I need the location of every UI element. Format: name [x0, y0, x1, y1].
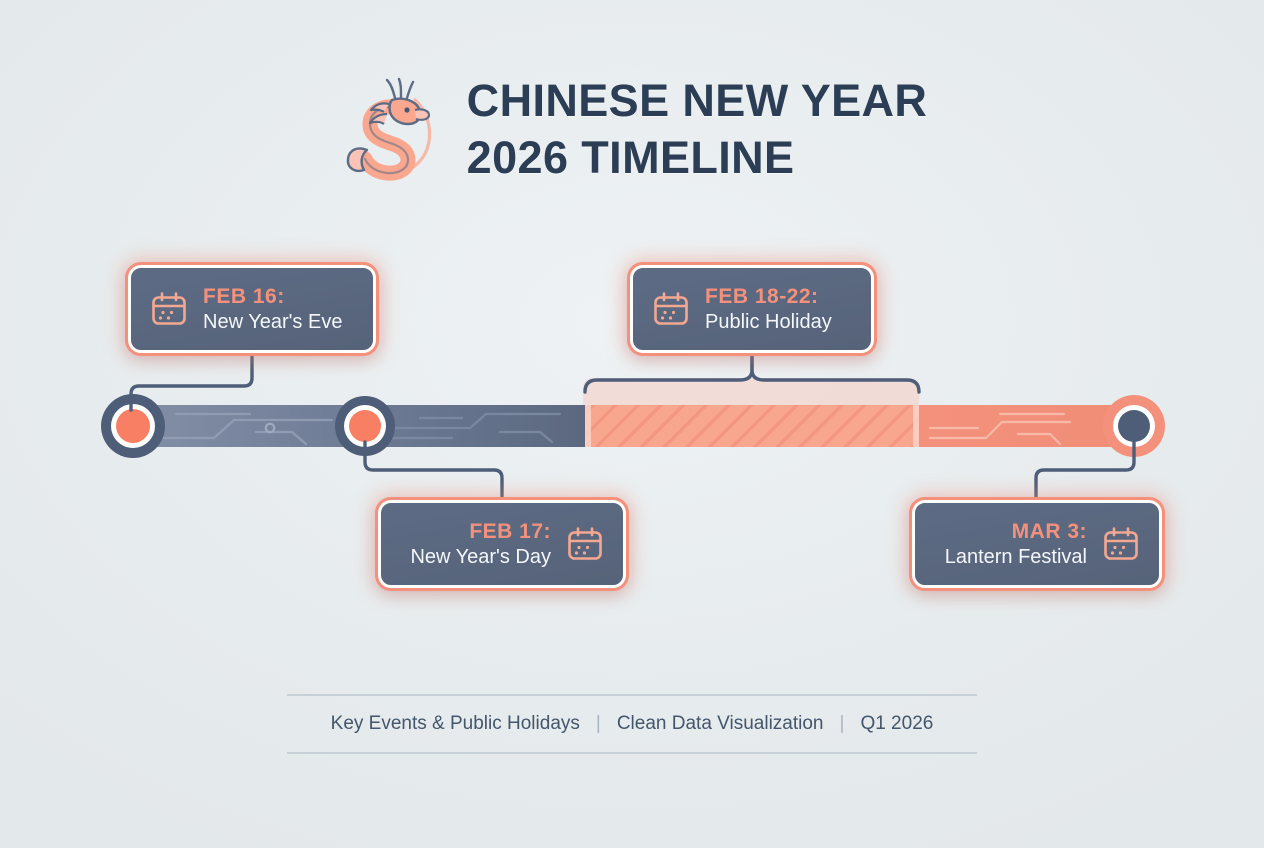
calendar-icon — [651, 289, 691, 329]
event-card-text: FEB 17: New Year's Day — [410, 520, 551, 568]
timeline-node-day — [335, 396, 395, 456]
connector-holiday-left — [585, 356, 752, 392]
event-card-text: MAR 3: Lantern Festival — [945, 520, 1087, 568]
calendar-icon — [1101, 524, 1141, 564]
connector-holiday-right — [752, 356, 919, 392]
footer: Key Events & Public Holidays | Clean Dat… — [287, 694, 977, 754]
event-card-holiday[interactable]: FEB 18-22: Public Holiday — [630, 265, 874, 353]
event-date: MAR 3: — [1012, 520, 1087, 544]
event-card-eve[interactable]: FEB 16: New Year's Eve — [128, 265, 376, 353]
event-label: Public Holiday — [705, 311, 832, 333]
footer-item-visualization: Clean Data Visualization — [601, 713, 840, 735]
event-date: FEB 16: — [203, 285, 342, 309]
event-card-lantern[interactable]: MAR 3: Lantern Festival — [912, 500, 1162, 588]
event-card-text: FEB 16: New Year's Eve — [203, 285, 342, 333]
timeline-node-lantern — [1103, 395, 1165, 457]
event-label: New Year's Eve — [203, 311, 342, 333]
dragon-icon — [337, 74, 441, 186]
event-card-day[interactable]: FEB 17: New Year's Day — [378, 500, 626, 588]
calendar-icon — [565, 524, 605, 564]
connector-eve — [131, 356, 252, 410]
infographic-canvas: CHINESE NEW YEAR 2026 TIMELINE — [0, 0, 1264, 848]
event-label: New Year's Day — [410, 546, 551, 568]
calendar-icon — [149, 289, 189, 329]
footer-item-quarter: Q1 2026 — [844, 713, 949, 735]
connector-lantern — [1036, 442, 1134, 498]
footer-item-events: Key Events & Public Holidays — [315, 713, 596, 735]
event-date: FEB 17: — [469, 520, 551, 544]
timeline-node-eve — [101, 394, 165, 458]
connector-day — [365, 442, 502, 498]
header: CHINESE NEW YEAR 2026 TIMELINE — [0, 72, 1264, 186]
event-card-text: FEB 18-22: Public Holiday — [705, 285, 832, 333]
page-title: CHINESE NEW YEAR 2026 TIMELINE — [467, 78, 928, 180]
title-line-2: 2026 TIMELINE — [467, 135, 928, 180]
event-label: Lantern Festival — [945, 546, 1087, 568]
title-line-1: CHINESE NEW YEAR — [467, 78, 928, 123]
event-date: FEB 18-22: — [705, 285, 832, 309]
